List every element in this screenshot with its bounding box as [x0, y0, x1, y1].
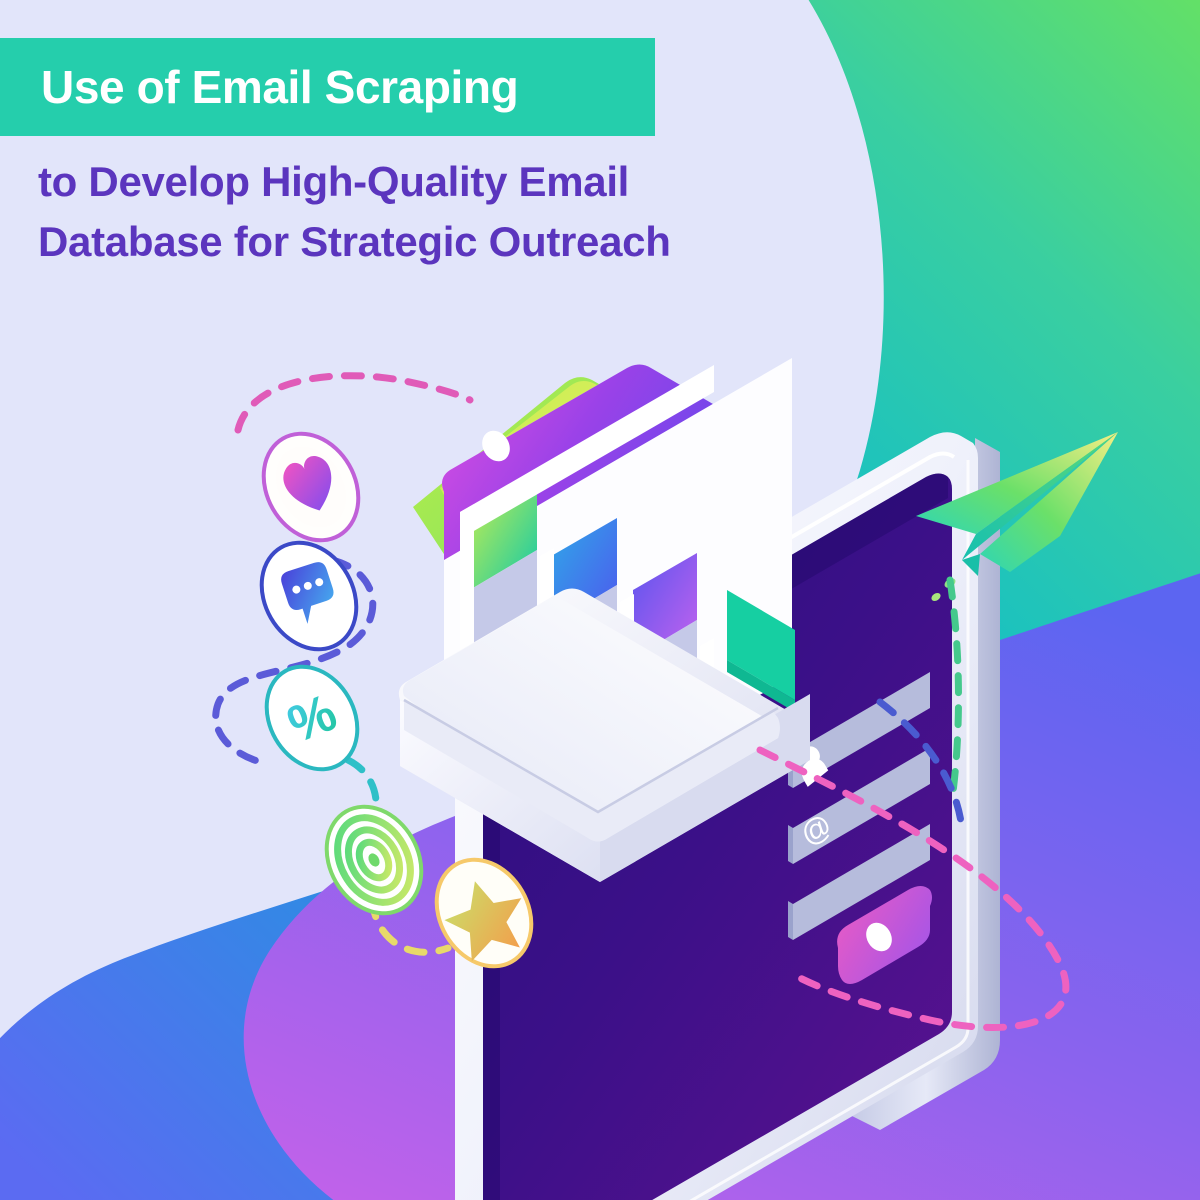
banner-canvas: @	[0, 0, 1200, 1200]
illustration-svg: @	[0, 0, 1200, 1200]
